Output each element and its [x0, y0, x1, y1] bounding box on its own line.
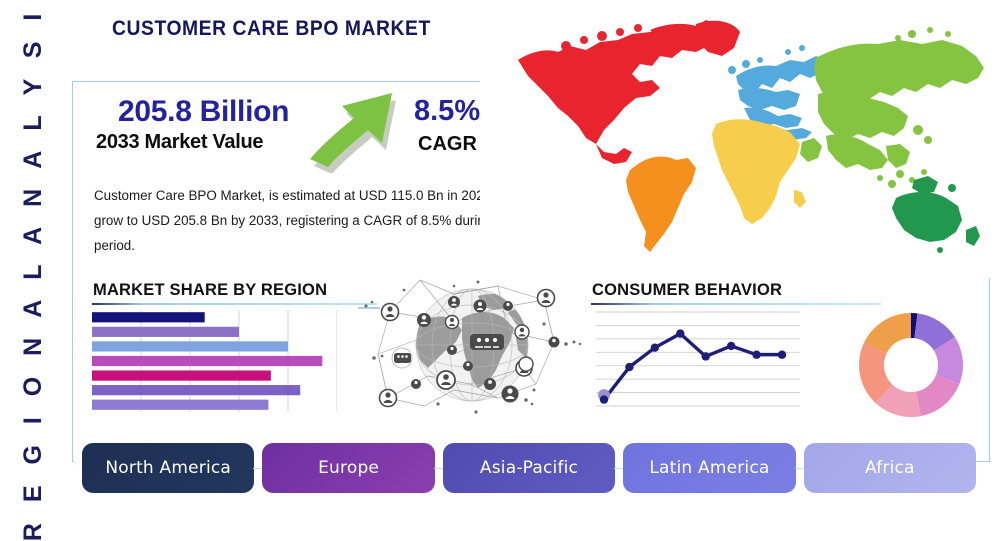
- bar-chart-bar: [92, 370, 271, 380]
- user-node-icon: [502, 386, 519, 403]
- line-chart-marker: [676, 329, 684, 337]
- market-share-section-title: MARKET SHARE BY REGION: [93, 281, 327, 300]
- bar-chart-bar: [92, 356, 322, 366]
- user-node-icon: [519, 357, 533, 371]
- hero-stats: 205.8 Billion 2033 Market Value 8.5% CAG…: [96, 95, 516, 170]
- market-share-bar-chart: [92, 310, 337, 412]
- bar-chart-bar: [92, 327, 239, 337]
- user-node-icon: [549, 337, 560, 348]
- side-label-text: R E G I O N A L A N A L Y S I S: [19, 0, 48, 541]
- region-pill-north-america[interactable]: North America: [82, 443, 254, 493]
- bar-chart-bar: [92, 341, 288, 351]
- region-pill-latin-america[interactable]: Latin America: [623, 443, 795, 493]
- user-node-icon: [515, 325, 529, 339]
- cagr-number: 8.5%: [414, 95, 480, 128]
- consumer-behavior-section-title: CONSUMER BEHAVIOR: [592, 281, 782, 300]
- map-region-south-america: [626, 157, 696, 252]
- map-region-north-america: [518, 20, 718, 164]
- map-region-greenland: [696, 21, 740, 56]
- world-map-icon: [500, 12, 992, 274]
- regional-analysis-side-label: R E G I O N A L A N A L Y S I S: [10, 55, 56, 455]
- consumer-behavior-line-chart: [596, 308, 800, 412]
- user-node-icon: [484, 378, 496, 390]
- region-pill-label: Latin America: [649, 458, 769, 478]
- user-node-icon: [463, 361, 473, 371]
- group-node-icon: [470, 334, 504, 350]
- consumer-behavior-divider: [591, 303, 881, 305]
- line-chart-marker: [778, 351, 786, 359]
- growth-arrow-icon: [308, 87, 408, 173]
- bar-chart-bar: [92, 312, 205, 322]
- region-pill-asia-pacific[interactable]: Asia-Pacific: [443, 443, 615, 493]
- user-node-icon: [437, 371, 455, 389]
- user-node-icon: [447, 345, 457, 355]
- map-region-oceania: [892, 176, 980, 253]
- cagr-label: CAGR: [418, 133, 477, 156]
- region-pill-row: North AmericaEuropeAsia-PacificLatin Ame…: [82, 443, 976, 493]
- line-chart-marker: [727, 342, 735, 350]
- user-node-icon: [474, 300, 487, 313]
- bar-chart-bar: [92, 385, 300, 395]
- market-value-number: 205.8 Billion: [118, 95, 289, 129]
- page-title: CUSTOMER CARE BPO MARKET: [112, 17, 431, 41]
- line-chart-marker: [600, 395, 608, 403]
- line-chart-marker: [702, 352, 710, 360]
- user-node-icon: [448, 296, 460, 308]
- market-value-label: 2033 Market Value: [96, 131, 263, 154]
- region-pill-label: Europe: [318, 458, 379, 478]
- line-chart-marker: [651, 343, 659, 351]
- group-node-icon: [392, 348, 412, 368]
- market-share-divider: [92, 303, 377, 305]
- user-node-icon: [538, 290, 555, 307]
- map-region-asia: [800, 27, 984, 188]
- user-node-icon: [446, 316, 459, 329]
- region-pill-africa[interactable]: Africa: [804, 443, 976, 493]
- user-node-icon: [503, 301, 513, 311]
- region-pill-label: North America: [105, 458, 231, 478]
- user-node-icon: [380, 390, 397, 407]
- globe-network-icon: [358, 272, 586, 422]
- region-pill-europe[interactable]: Europe: [262, 443, 434, 493]
- donut-segments: [859, 313, 963, 417]
- line-chart-marker: [625, 363, 633, 371]
- map-region-africa: [712, 119, 806, 224]
- region-pill-label: Asia-Pacific: [480, 458, 578, 478]
- bar-chart-bar: [92, 400, 268, 410]
- user-node-icon: [417, 313, 431, 327]
- user-node-icon: [382, 304, 399, 321]
- region-pill-label: Africa: [865, 458, 915, 478]
- regional-donut-chart: [851, 305, 971, 425]
- user-node-icon: [411, 379, 421, 389]
- line-chart-marker: [752, 351, 760, 359]
- line-chart-gridlines: [596, 312, 800, 406]
